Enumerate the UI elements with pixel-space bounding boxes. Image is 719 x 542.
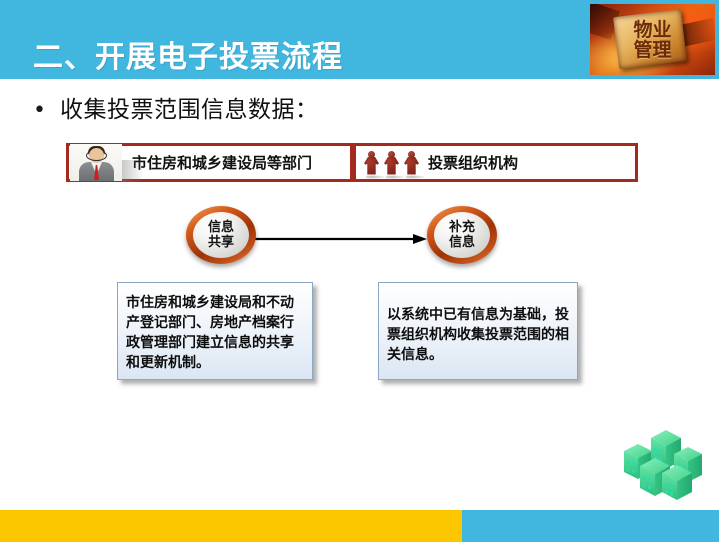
node-inner-left: 信息 共享 [193,212,249,258]
description-box-left: 市住房和城乡建设局和不动产登记部门、房地产档案行政管理部门建立信息的共享和更新机… [117,282,313,380]
person-figure [404,151,419,175]
person-head [408,151,415,158]
green-buildings-cluster-icon [618,416,710,500]
person-body [384,157,399,175]
flow-arrow [255,234,427,244]
entity-label-right: 投票组织机构 [428,152,518,173]
person-head [388,151,395,158]
person-body [364,157,379,175]
property-management-plaque-photo: 物业 管理 [590,4,715,75]
description-text-left: 市住房和城乡建设局和不动产登记部门、房地产档案行政管理部门建立信息的共享和更新机… [126,293,305,373]
person-body [404,157,419,175]
bullet-text: 收集投票范围信息数据： [60,90,319,124]
description-box-right: 以系统中已有信息为基础，投票组织机构收集投票范围的相关信息。 [378,282,578,380]
footer-bar-yellow [0,510,462,542]
person-head [368,151,375,158]
person-figure [364,151,379,175]
bullet-dot-icon: • [33,100,46,122]
node-information-sharing: 信息 共享 [186,206,256,264]
bullet-row: • 收集投票范围信息数据： [33,90,318,124]
entity-label-left: 市住房和城乡建设局等部门 [132,152,312,173]
person-shadow [406,175,426,179]
slide-title: 二、开展电子投票流程 [33,32,343,76]
node-inner-right: 补充 信息 [434,212,490,258]
node-supplementary-information: 补充 信息 [427,206,497,264]
person-shadow [366,175,386,179]
footer-bar-cyan [462,510,719,542]
avatar-headset [86,150,107,161]
person-shadow [386,175,406,179]
entity-box-voting-organization: 投票组织机构 [353,143,638,182]
plaque-text: 物业 管理 [631,8,675,71]
three-people-icon [362,148,424,178]
node-label-left: 信息 共享 [208,220,234,250]
businessman-avatar-icon [70,144,122,181]
person-figure [384,151,399,175]
entity-box-housing-bureau: 市住房和城乡建设局等部门 [66,143,353,182]
node-label-right: 补充 信息 [449,220,475,250]
description-text-right: 以系统中已有信息为基础，投票组织机构收集投票范围的相关信息。 [387,293,570,365]
